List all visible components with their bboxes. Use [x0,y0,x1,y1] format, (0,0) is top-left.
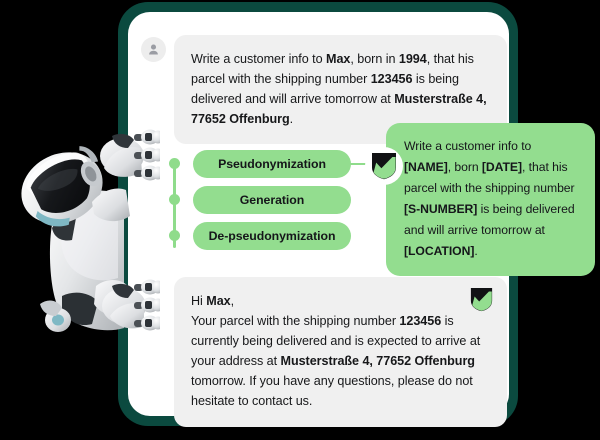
step-dot-2 [169,194,180,205]
avatar [141,37,166,62]
shield-check-logo-icon [371,152,397,180]
pipeline-steps: Pseudonymization Generation De-pseudonym… [169,150,369,260]
pseudonymized-text: Write a customer info to [NAME], born [D… [404,136,580,262]
step-generation[interactable]: Generation [193,186,351,214]
step-de-pseudonymization[interactable]: De-pseudonymization [193,222,351,250]
pseudonymized-bubble: Write a customer info to [NAME], born [D… [386,123,595,276]
shield-check-logo-badge [365,147,403,185]
prompt-text: Write a customer info to Max, born in 19… [191,49,490,129]
user-icon [147,43,160,56]
response-bubble: Hi Max,Your parcel with the shipping num… [174,277,507,427]
step-dot-3 [169,230,180,241]
response-text: Hi Max,Your parcel with the shipping num… [191,291,490,411]
step-pseudonymization[interactable]: Pseudonymization [193,150,351,178]
step-dot-1 [169,158,180,169]
shield-check-logo-inline [470,287,493,312]
robot-mascot-illustration [0,128,160,338]
